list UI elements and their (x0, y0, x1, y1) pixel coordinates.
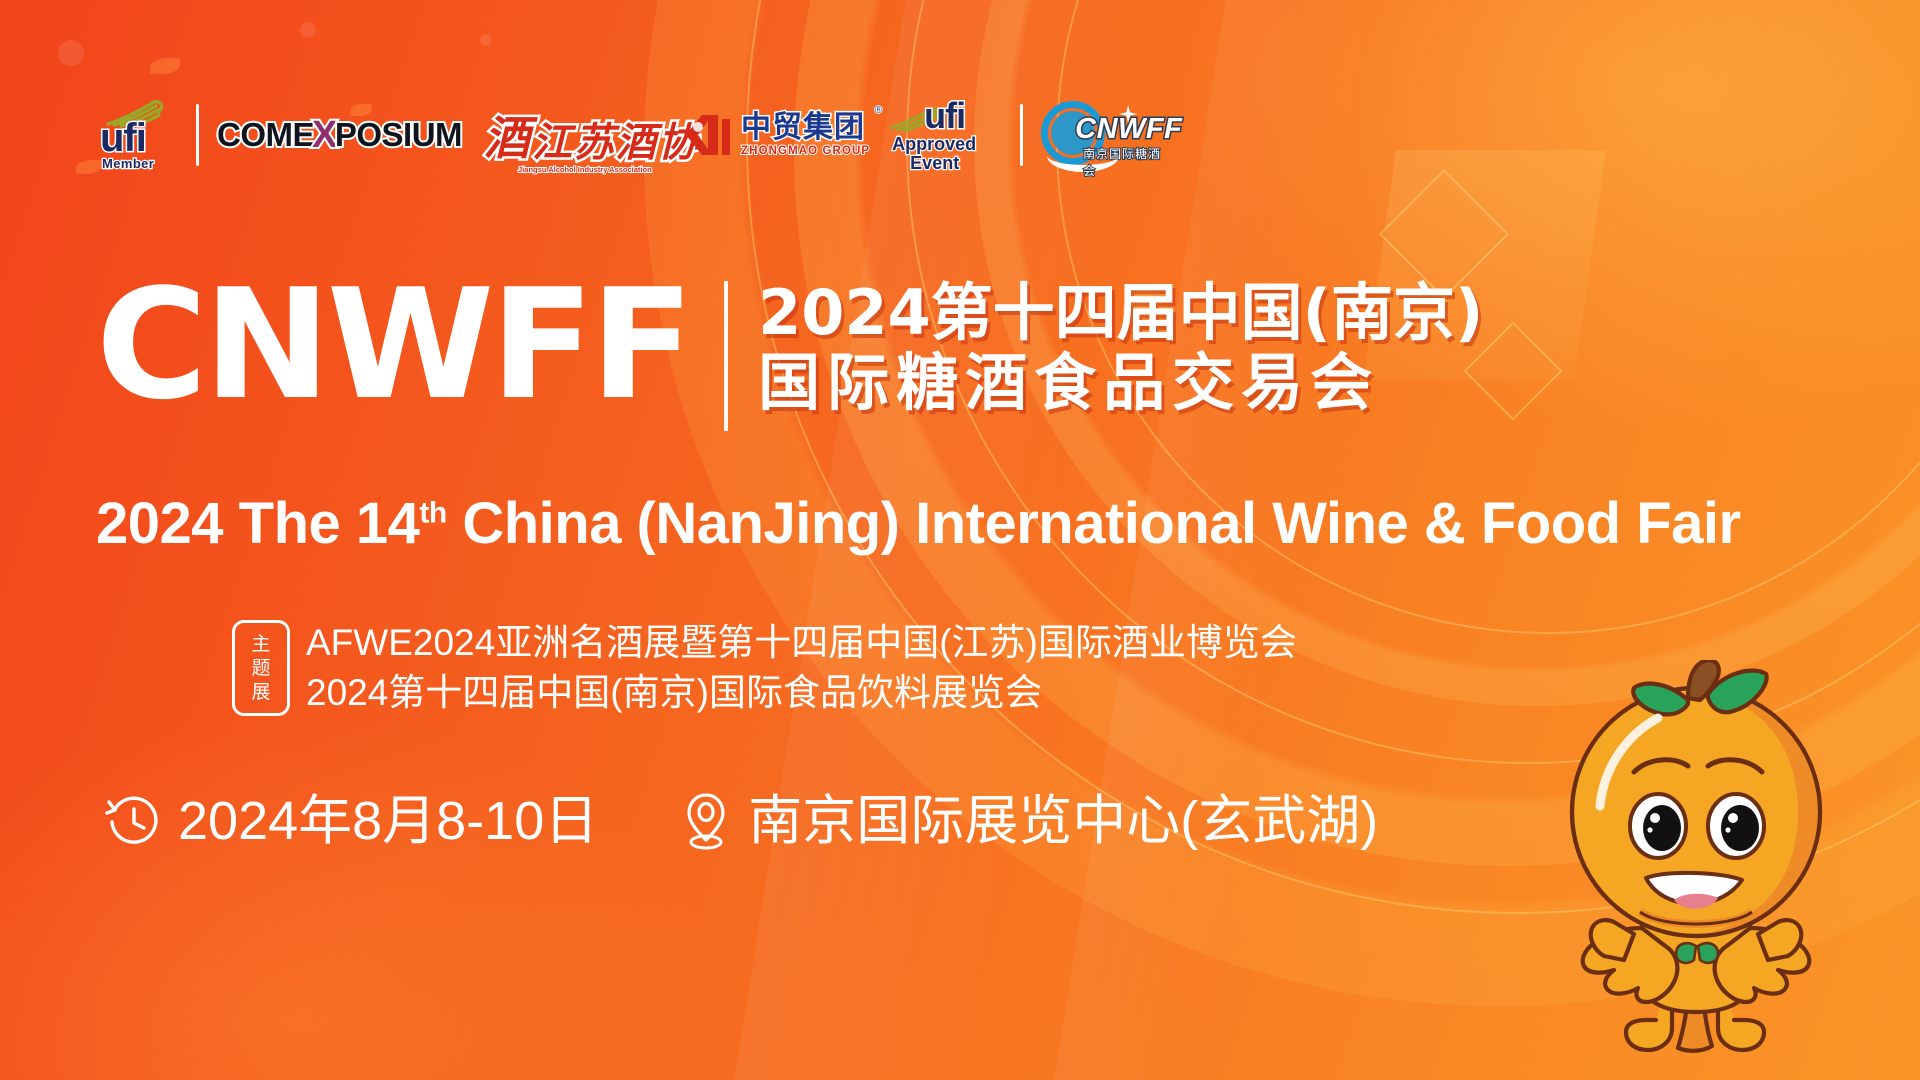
cnwff-roundel-logo: CNWFF 南京国际糖酒会 (1041, 96, 1165, 174)
title-english-suffix: China (NanJing) International Wine & Foo… (447, 491, 1741, 556)
promotional-banner: ufi Member COME X POSIUM 酒 江 苏 酒 协 (0, 0, 1920, 1080)
jsaa-char-0: 酒 (484, 102, 530, 168)
jsaa-char-1: 江 (532, 110, 572, 168)
jsaa-char-3: 酒 (616, 110, 656, 168)
title-chinese-line-1: 2024第十四届中国(南京) (758, 279, 1483, 347)
bokeh-dot (300, 22, 316, 38)
event-date-item: 2024年8月8-10日 (104, 792, 598, 850)
theme-exhibition-tag: 主 题 展 (232, 620, 290, 716)
cnwff-wordmark: CNWFF (96, 275, 690, 415)
cnwff-logo-chinese: 南京国际糖酒会 (1083, 145, 1165, 179)
ufi-member-logo: ufi Member (96, 96, 178, 174)
logo-divider (1020, 104, 1023, 166)
ufi-approved-line-2: Event (910, 153, 959, 174)
ufi-approved-event-logo: ufi Approved Event (890, 96, 1002, 174)
comexposium-x-glyph: X (312, 114, 337, 157)
zhongmao-char-1: 贸 (772, 113, 802, 143)
zhongmao-char-3: 团 (834, 113, 864, 143)
zhongmao-group-logo: 中 贸 集 团 ZHONGMAO GROUP ® (682, 96, 870, 174)
bokeh-dot (480, 34, 492, 46)
theme-tag-char-2: 展 (251, 681, 270, 704)
ufi-approved-wordmark: ufi (924, 98, 965, 134)
theme-exhibition-line-1: AFWE2024亚洲名酒展暨第十四届中国(江苏)国际酒业博览会 (306, 620, 1297, 666)
theme-tag-char-1: 题 (251, 657, 270, 680)
event-meta-row: 2024年8月8-10日 南京国际展览中心(玄武湖) (104, 790, 1378, 852)
event-date-text: 2024年8月8-10日 (178, 792, 598, 850)
title-english-prefix: 2024 The 14 (96, 491, 419, 556)
zhongmao-english-label: ZHONGMAO GROUP (741, 145, 870, 157)
registered-trademark-icon: ® (875, 105, 882, 116)
ufi-approved-line-1: Approved (892, 134, 976, 155)
main-title-block: CNWFF 2024第十四届中国(南京) 国际糖酒食品交易会 (96, 275, 1483, 431)
comexposium-text-after: POSIUM (335, 116, 462, 154)
location-pin-icon (680, 790, 732, 852)
comexposium-logo: COME X POSIUM (217, 96, 462, 174)
title-english-ordinal: th (419, 497, 446, 530)
jiangsu-alcohol-association-logo: 酒 江 苏 酒 协 Jiangsu Alcohol Industry Assoc… (484, 96, 666, 174)
orange-fruit-mascot (1522, 660, 1894, 1080)
leaf-speck (150, 58, 180, 74)
zhongmao-char-2: 集 (803, 113, 833, 143)
event-venue-item: 南京国际展览中心(玄武湖) (680, 790, 1378, 852)
jsaa-char-2: 苏 (574, 110, 614, 168)
jsaa-english-label: Jiangsu Alcohol Industry Association (518, 165, 652, 174)
theme-exhibition-line-2: 2024第十四届中国(南京)国际食品饮料展览会 (306, 670, 1297, 716)
theme-tag-char-0: 主 (251, 633, 270, 656)
comexposium-text-before: COME (217, 116, 314, 154)
title-divider (724, 281, 728, 431)
ufi-member-label: Member (102, 156, 154, 171)
bokeh-dot (58, 40, 84, 66)
bottom-glow (0, 700, 740, 1080)
cnwff-logo-wordmark: CNWFF (1075, 113, 1182, 146)
logo-divider (196, 104, 199, 166)
zhongmao-emblem-icon (682, 109, 734, 161)
title-chinese-line-2: 国际糖酒食品交易会 (758, 349, 1483, 417)
clock-icon (104, 792, 162, 850)
ufi-wordmark: ufi (100, 118, 146, 158)
event-venue-text: 南京国际展览中心(玄武湖) (748, 792, 1378, 850)
zhongmao-char-0: 中 (741, 113, 771, 143)
theme-exhibition-block: 主 题 展 AFWE2024亚洲名酒展暨第十四届中国(江苏)国际酒业博览会 20… (232, 620, 1297, 716)
title-english: 2024 The 14th China (NanJing) Internatio… (96, 490, 1741, 557)
partner-logo-row: ufi Member COME X POSIUM 酒 江 苏 酒 协 (96, 96, 1165, 174)
